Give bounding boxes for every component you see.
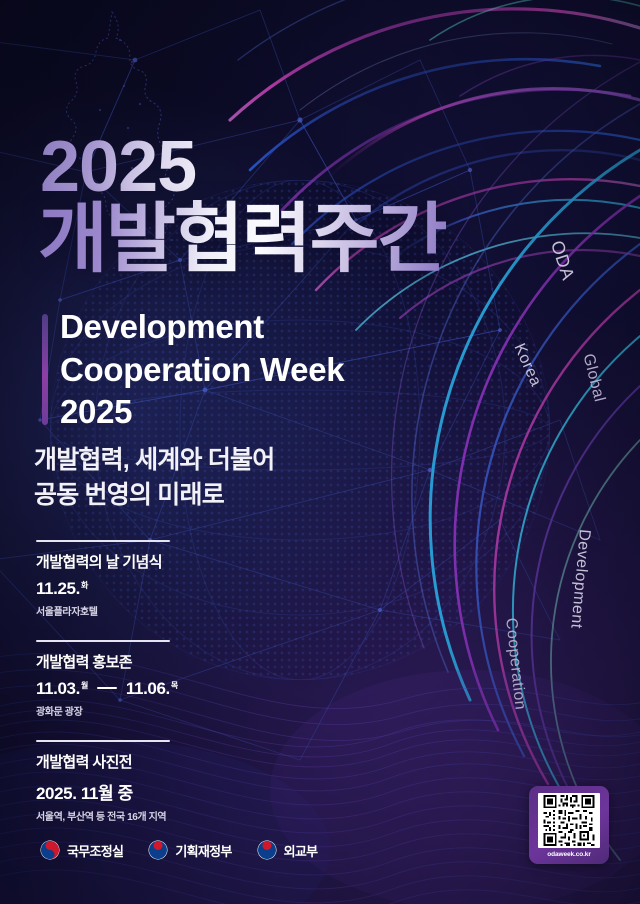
taegeuk-icon xyxy=(40,840,60,860)
event-title: 개발협력 홍보존 xyxy=(36,651,286,672)
arc-word-korea: Korea xyxy=(510,341,545,390)
slogan-line-1: 개발협력, 세계와 더불어 xyxy=(34,443,274,478)
event-date-end-day: 목 xyxy=(171,680,178,691)
event-item: 개발협력 홍보존 11.03.월 11.06.목 광화문 광장 xyxy=(36,640,286,718)
title-en-line-2: Cooperation Week xyxy=(60,349,344,392)
qr-code-icon[interactable] xyxy=(538,793,600,848)
event-date-start-day: 화 xyxy=(81,580,88,591)
arc-streaks-right xyxy=(392,62,640,860)
organizer-logo: 외교부 xyxy=(257,840,318,860)
event-list: 개발협력의 날 기념식 11.25.화 서울플라자호텔 개발협력 홍보존 11.… xyxy=(36,540,286,845)
slogan-line-2: 공동 번영의 미래로 xyxy=(34,478,274,513)
organizer-name: 기획재정부 xyxy=(175,841,231,860)
event-title: 개발협력의 날 기념식 xyxy=(36,551,286,572)
poster-slogan: 개발협력, 세계와 더불어 공동 번영의 미래로 xyxy=(34,443,274,513)
event-date: 11.03.월 11.06.목 xyxy=(36,679,286,699)
accent-bar xyxy=(42,314,48,425)
event-place: 광화문 광장 xyxy=(36,703,286,718)
event-divider xyxy=(36,540,170,542)
event-item: 개발협력 사진전 2025. 11월 중 서울역, 부산역 등 전국 16개 지… xyxy=(36,740,286,823)
arc-word-oda: ODA xyxy=(546,238,578,283)
date-range-dash xyxy=(97,687,117,689)
organizer-logos: 국무조정실 기획재정부 외교부 xyxy=(40,840,317,860)
event-date-start: 11.25. xyxy=(36,579,80,599)
qr-url-label: odaweek.co.kr xyxy=(547,851,591,858)
event-date-end: 11.06. xyxy=(126,679,170,699)
organizer-logo: 기획재정부 xyxy=(148,840,231,860)
title-en-line-3: 2025 xyxy=(60,391,344,434)
arc-word-development: Development xyxy=(566,528,593,629)
event-date-start-day: 월 xyxy=(81,680,88,691)
taegeuk-icon xyxy=(148,840,168,860)
arc-word-global: Global xyxy=(579,352,608,404)
event-divider xyxy=(36,640,170,642)
poster: 2025 개발협력주간 Development Cooperation Week… xyxy=(0,0,640,904)
arc-word-cooperation: Cooperation xyxy=(501,617,529,711)
event-item: 개발협력의 날 기념식 11.25.화 서울플라자호텔 xyxy=(36,540,286,618)
event-place: 서울플라자호텔 xyxy=(36,603,286,618)
organizer-name: 외교부 xyxy=(284,841,318,860)
event-date-start: 2025. 11월 중 xyxy=(36,779,133,804)
event-date: 2025. 11월 중 xyxy=(36,779,286,804)
taegeuk-icon xyxy=(257,840,277,860)
event-date: 11.25.화 xyxy=(36,579,286,599)
event-title: 개발협력 사진전 xyxy=(36,751,286,772)
event-place: 서울역, 부산역 등 전국 16개 지역 xyxy=(36,808,286,823)
qr-panel[interactable]: odaweek.co.kr xyxy=(529,786,609,864)
poster-title-korean: 개발협력주간 xyxy=(38,200,446,280)
title-en-line-1: Development xyxy=(60,306,344,349)
event-date-start: 11.03. xyxy=(36,679,80,699)
poster-title-english: Development Cooperation Week 2025 xyxy=(60,306,344,434)
organizer-name: 국무조정실 xyxy=(67,841,123,860)
event-divider xyxy=(36,740,170,742)
organizer-logo: 국무조정실 xyxy=(40,840,123,860)
poster-year: 2025 xyxy=(40,131,196,203)
